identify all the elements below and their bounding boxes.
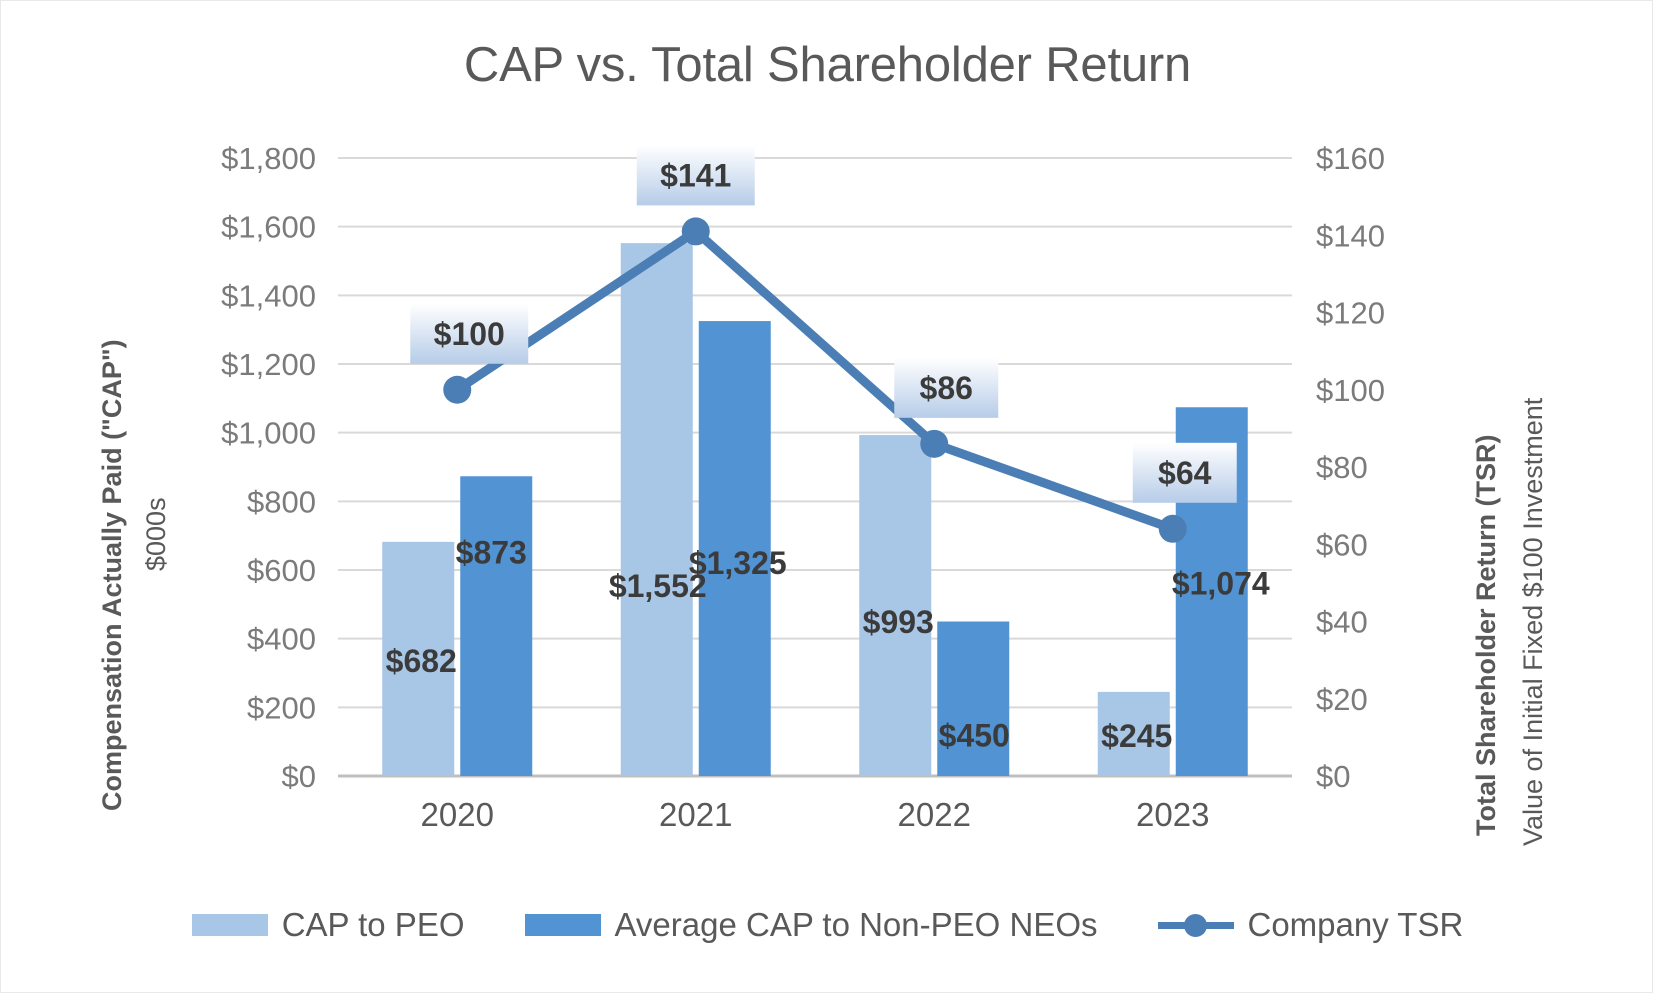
- tsr-marker-2023: [1159, 515, 1187, 543]
- legend-label: Average CAP to Non-PEO NEOs: [615, 906, 1098, 944]
- tsr-value-label: $141: [660, 157, 731, 193]
- tsr-line: [457, 231, 1173, 528]
- tsr-value-label: $86: [920, 370, 973, 406]
- y-axis-tick-label: $1,800: [221, 141, 316, 176]
- x-axis-label-2021: 2021: [659, 796, 732, 833]
- y-axis-tick-label: $1,200: [221, 347, 316, 382]
- bar-value-label: $682: [386, 643, 457, 679]
- tsr-value-label: $64: [1158, 455, 1212, 491]
- legend-dot-icon: [1184, 914, 1207, 937]
- y2-axis-tick-label: $20: [1316, 682, 1368, 717]
- chart-page: CAP vs. Total Shareholder Return Compens…: [0, 0, 1653, 993]
- tsr-marker-2021: [682, 217, 710, 245]
- legend-label: Company TSR: [1248, 906, 1464, 944]
- legend-item-1[interactable]: Average CAP to Non-PEO NEOs: [525, 906, 1098, 944]
- legend-item-0[interactable]: CAP to PEO: [192, 906, 465, 944]
- y2-axis-tick-label: $0: [1316, 759, 1350, 794]
- legend-label: CAP to PEO: [282, 906, 465, 944]
- y-axis-tick-label: $400: [247, 622, 316, 657]
- tsr-value-label: $100: [434, 316, 505, 352]
- bar-value-label: $873: [456, 534, 527, 570]
- legend-item-2[interactable]: Company TSR: [1158, 906, 1464, 944]
- y-axis-tick-label: $1,400: [221, 278, 316, 313]
- bar-value-label: $450: [939, 718, 1010, 754]
- y-axis-tick-label: $600: [247, 553, 316, 588]
- y2-axis-tick-label: $80: [1316, 450, 1368, 485]
- legend-line-marker-icon: [1158, 914, 1234, 936]
- bar-cap-peo-2021: [621, 243, 693, 776]
- x-axis-label-2020: 2020: [421, 796, 494, 833]
- x-axis-label-2023: 2023: [1136, 796, 1209, 833]
- y2-axis-tick-label: $60: [1316, 527, 1368, 562]
- y-axis-tick-label: $1,600: [221, 210, 316, 245]
- y-axis-tick-label: $200: [247, 690, 316, 725]
- bar-value-label: $1,074: [1172, 565, 1270, 601]
- y2-axis-tick-label: $100: [1316, 373, 1385, 408]
- chart-legend: CAP to PEOAverage CAP to Non-PEO NEOsCom…: [1, 906, 1653, 944]
- y2-axis-tick-label: $120: [1316, 296, 1385, 331]
- x-axis-label-2022: 2022: [898, 796, 971, 833]
- bar-cap-neo-2020: [460, 476, 532, 776]
- y-axis-tick-label: $800: [247, 484, 316, 519]
- legend-swatch-icon: [192, 914, 268, 936]
- chart-plot-area: $0$200$400$600$800$1,000$1,200$1,400$1,6…: [1, 1, 1653, 906]
- y2-axis-tick-label: $160: [1316, 141, 1385, 176]
- legend-swatch-icon: [525, 914, 601, 936]
- bar-value-label: $245: [1101, 718, 1172, 754]
- bar-value-label: $993: [863, 604, 934, 640]
- tsr-marker-2020: [443, 376, 471, 404]
- bar-value-label: $1,325: [689, 545, 787, 581]
- y-axis-tick-label: $1,000: [221, 416, 316, 451]
- tsr-marker-2022: [920, 430, 948, 458]
- y-axis-tick-label: $0: [282, 759, 316, 794]
- y2-axis-tick-label: $140: [1316, 218, 1385, 253]
- y2-axis-tick-label: $40: [1316, 605, 1368, 640]
